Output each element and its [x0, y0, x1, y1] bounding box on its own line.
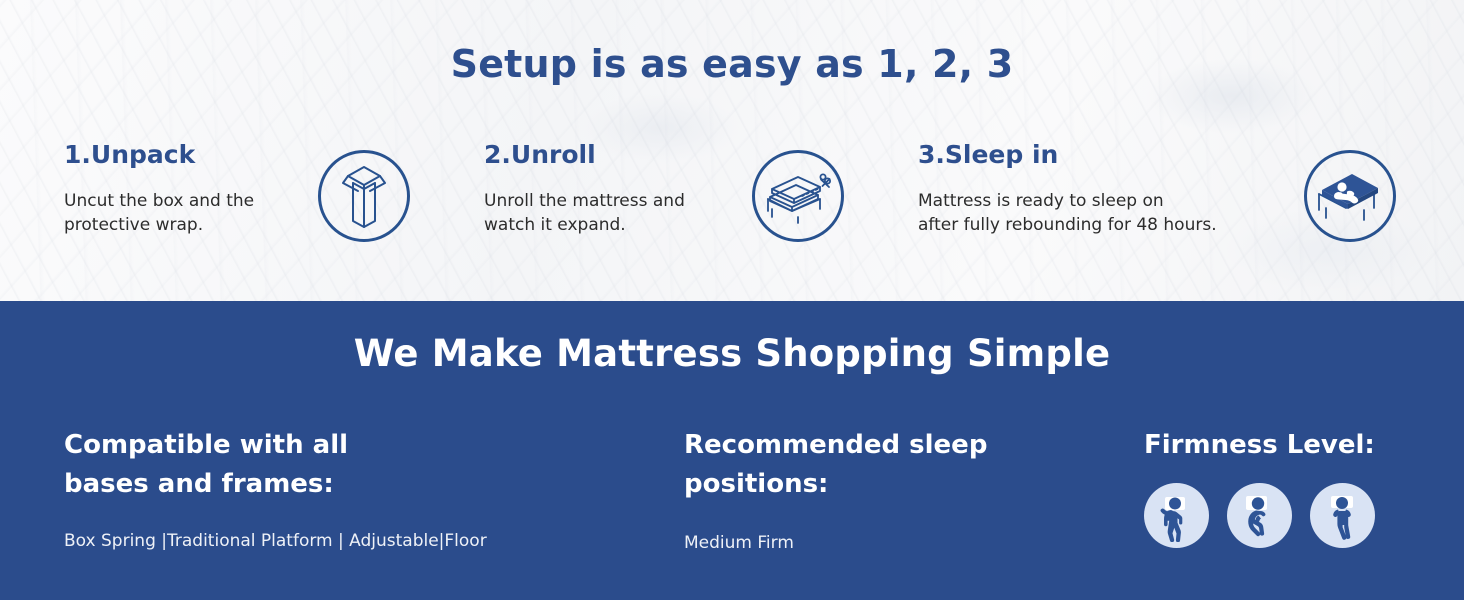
column-subtext: Box Spring |Traditional Platform | Adjus…	[64, 530, 624, 554]
shopping-simple-section: We Make Mattress Shopping Simple Compati…	[0, 301, 1464, 600]
open-box-icon	[318, 150, 410, 242]
step-text-block: 2.Unroll Unroll the mattress and watch i…	[484, 142, 685, 237]
column-subtext: Medium Firm	[684, 532, 1104, 556]
step-item-unpack: 1.Unpack Uncut the box and the protectiv…	[64, 142, 424, 272]
column-heading: Compatible with all bases and frames:	[64, 426, 624, 504]
page-title: Setup is as easy as 1, 2, 3	[0, 42, 1464, 86]
step-title: 1.Unpack	[64, 142, 254, 167]
stomach-sleeper-icon	[1144, 483, 1209, 548]
column-heading: Recommended sleep positions:	[684, 426, 1104, 504]
steps-list: 1.Unpack Uncut the box and the protectiv…	[0, 142, 1464, 282]
back-sleeper-icon	[1310, 483, 1375, 548]
sleep-position-icon-group	[1144, 483, 1375, 548]
step-item-sleep-in: 3.Sleep in Mattress is ready to sleep on…	[918, 142, 1398, 272]
column-sleep-positions: Recommended sleep positions: Medium Firm	[684, 426, 1104, 556]
step-text-block: 1.Unpack Uncut the box and the protectiv…	[64, 142, 254, 237]
mattress-setup-banner: Setup is as easy as 1, 2, 3 1.Unpack Unc…	[0, 0, 1464, 600]
step-description: Mattress is ready to sleep on after full…	[918, 189, 1217, 237]
step-description: Unroll the mattress and watch it expand.	[484, 189, 685, 237]
mattress-unroll-scissors-icon	[752, 150, 844, 242]
person-sleeping-on-bed-icon	[1304, 150, 1396, 242]
step-description: Uncut the box and the protective wrap.	[64, 189, 254, 237]
column-compatible-bases: Compatible with all bases and frames: Bo…	[64, 426, 624, 554]
step-item-unroll: 2.Unroll Unroll the mattress and watch i…	[484, 142, 854, 272]
step-text-block: 3.Sleep in Mattress is ready to sleep on…	[918, 142, 1217, 237]
side-sleeper-icon	[1227, 483, 1292, 548]
column-heading: Firmness Level:	[1144, 426, 1434, 465]
column-firmness-level: Firmness Level:	[1144, 426, 1434, 465]
feature-columns: Compatible with all bases and frames: Bo…	[0, 426, 1464, 596]
step-title: 3.Sleep in	[918, 142, 1217, 167]
step-title: 2.Unroll	[484, 142, 685, 167]
setup-steps-section: Setup is as easy as 1, 2, 3 1.Unpack Unc…	[0, 0, 1464, 301]
section-title: We Make Mattress Shopping Simple	[0, 332, 1464, 375]
